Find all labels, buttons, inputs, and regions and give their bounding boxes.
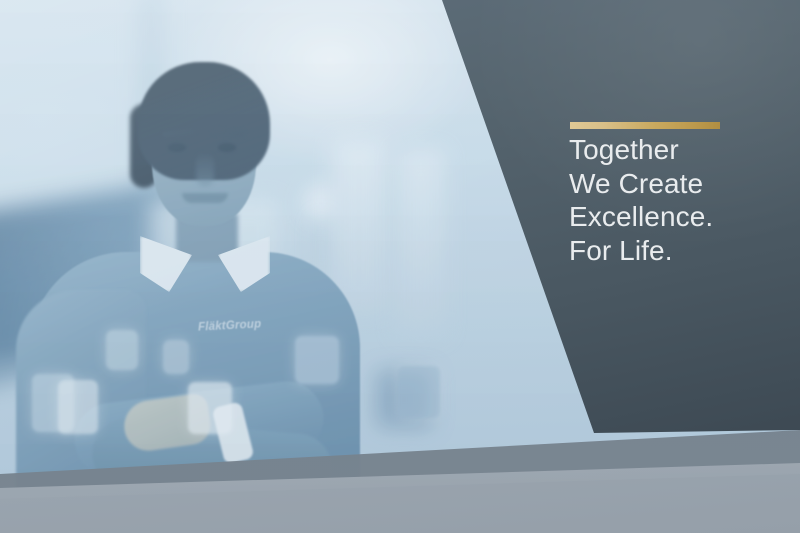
hero-banner: FläktGroup Together We Create Excellence… bbox=[0, 0, 800, 533]
gold-accent-bar bbox=[570, 122, 720, 129]
tagline: Together We Create Excellence. For Life. bbox=[569, 133, 797, 267]
tagline-line-3: Excellence. bbox=[569, 200, 797, 234]
tagline-line-1: Together bbox=[569, 133, 797, 167]
tagline-line-2: We Create bbox=[569, 167, 797, 201]
tagline-line-4: For Life. bbox=[569, 234, 797, 268]
